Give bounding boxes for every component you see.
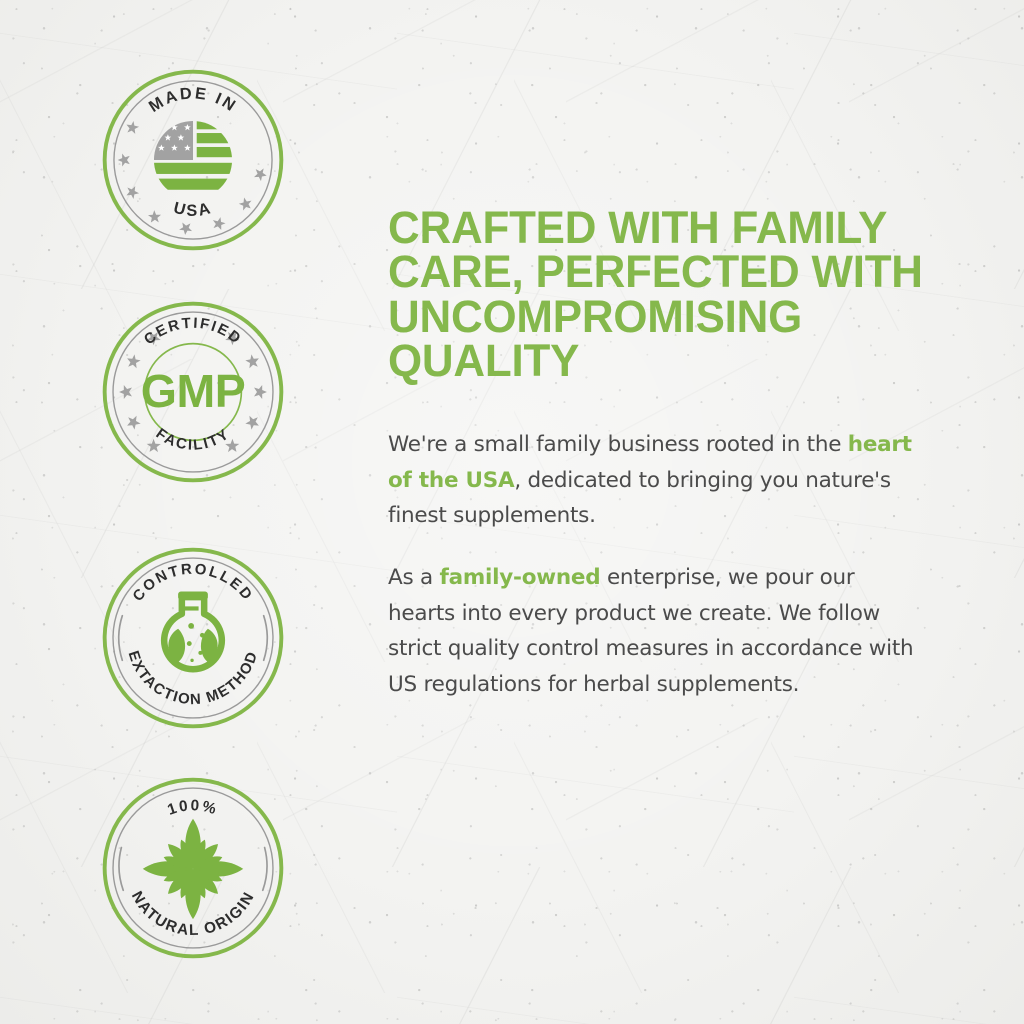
paragraph-1-before: We're a small family business rooted in …	[388, 432, 848, 457]
paragraph-2: As a family-owned enterprise, we pour ou…	[388, 560, 928, 702]
headline-line-4: QUALITY	[388, 335, 579, 386]
badge-controlled-extraction-method: CONTROLLED EXTACTION METHOD	[100, 545, 286, 731]
flag-graphic	[150, 119, 239, 190]
rosette-graphic	[143, 819, 243, 919]
gmp-seal-icon: GMP CERTIFIED FACILITY	[100, 299, 286, 485]
paragraph-2-highlight: family-owned	[440, 565, 601, 590]
badge-top-label: 100%	[165, 797, 220, 819]
page-title: CRAFTED WITH FAMILY CARE, PERFECTED WITH…	[388, 206, 940, 383]
usa-flag-circle-icon: MADE IN USA	[100, 67, 286, 253]
gmp-center-label: GMP	[141, 365, 246, 417]
flask-graphic	[164, 592, 222, 670]
badge-bottom-label: EXTACTION METHOD	[125, 649, 262, 708]
content-column: CRAFTED WITH FAMILY CARE, PERFECTED WITH…	[386, 0, 1024, 1024]
badge-bottom-label: FACILITY	[153, 426, 234, 454]
badge-natural-origin: 100% NATURAL ORIGIN	[100, 775, 286, 961]
badge-top-label: MADE IN	[146, 84, 241, 116]
certification-badge-column: MADE IN USA	[0, 0, 386, 1024]
badge-made-in-usa: MADE IN USA	[100, 67, 286, 253]
page-layout: MADE IN USA	[0, 0, 1024, 1024]
leaf-rosette-icon: 100% NATURAL ORIGIN	[100, 775, 286, 961]
badge-gmp-certified-facility: GMP CERTIFIED FACILITY	[100, 299, 286, 485]
paragraph-2-before: As a	[388, 565, 440, 590]
badge-bottom-label: USA	[172, 199, 215, 220]
paragraph-1: We're a small family business rooted in …	[388, 427, 928, 534]
flask-leaf-icon: CONTROLLED EXTACTION METHOD	[100, 545, 286, 731]
body-copy: We're a small family business rooted in …	[388, 427, 928, 702]
